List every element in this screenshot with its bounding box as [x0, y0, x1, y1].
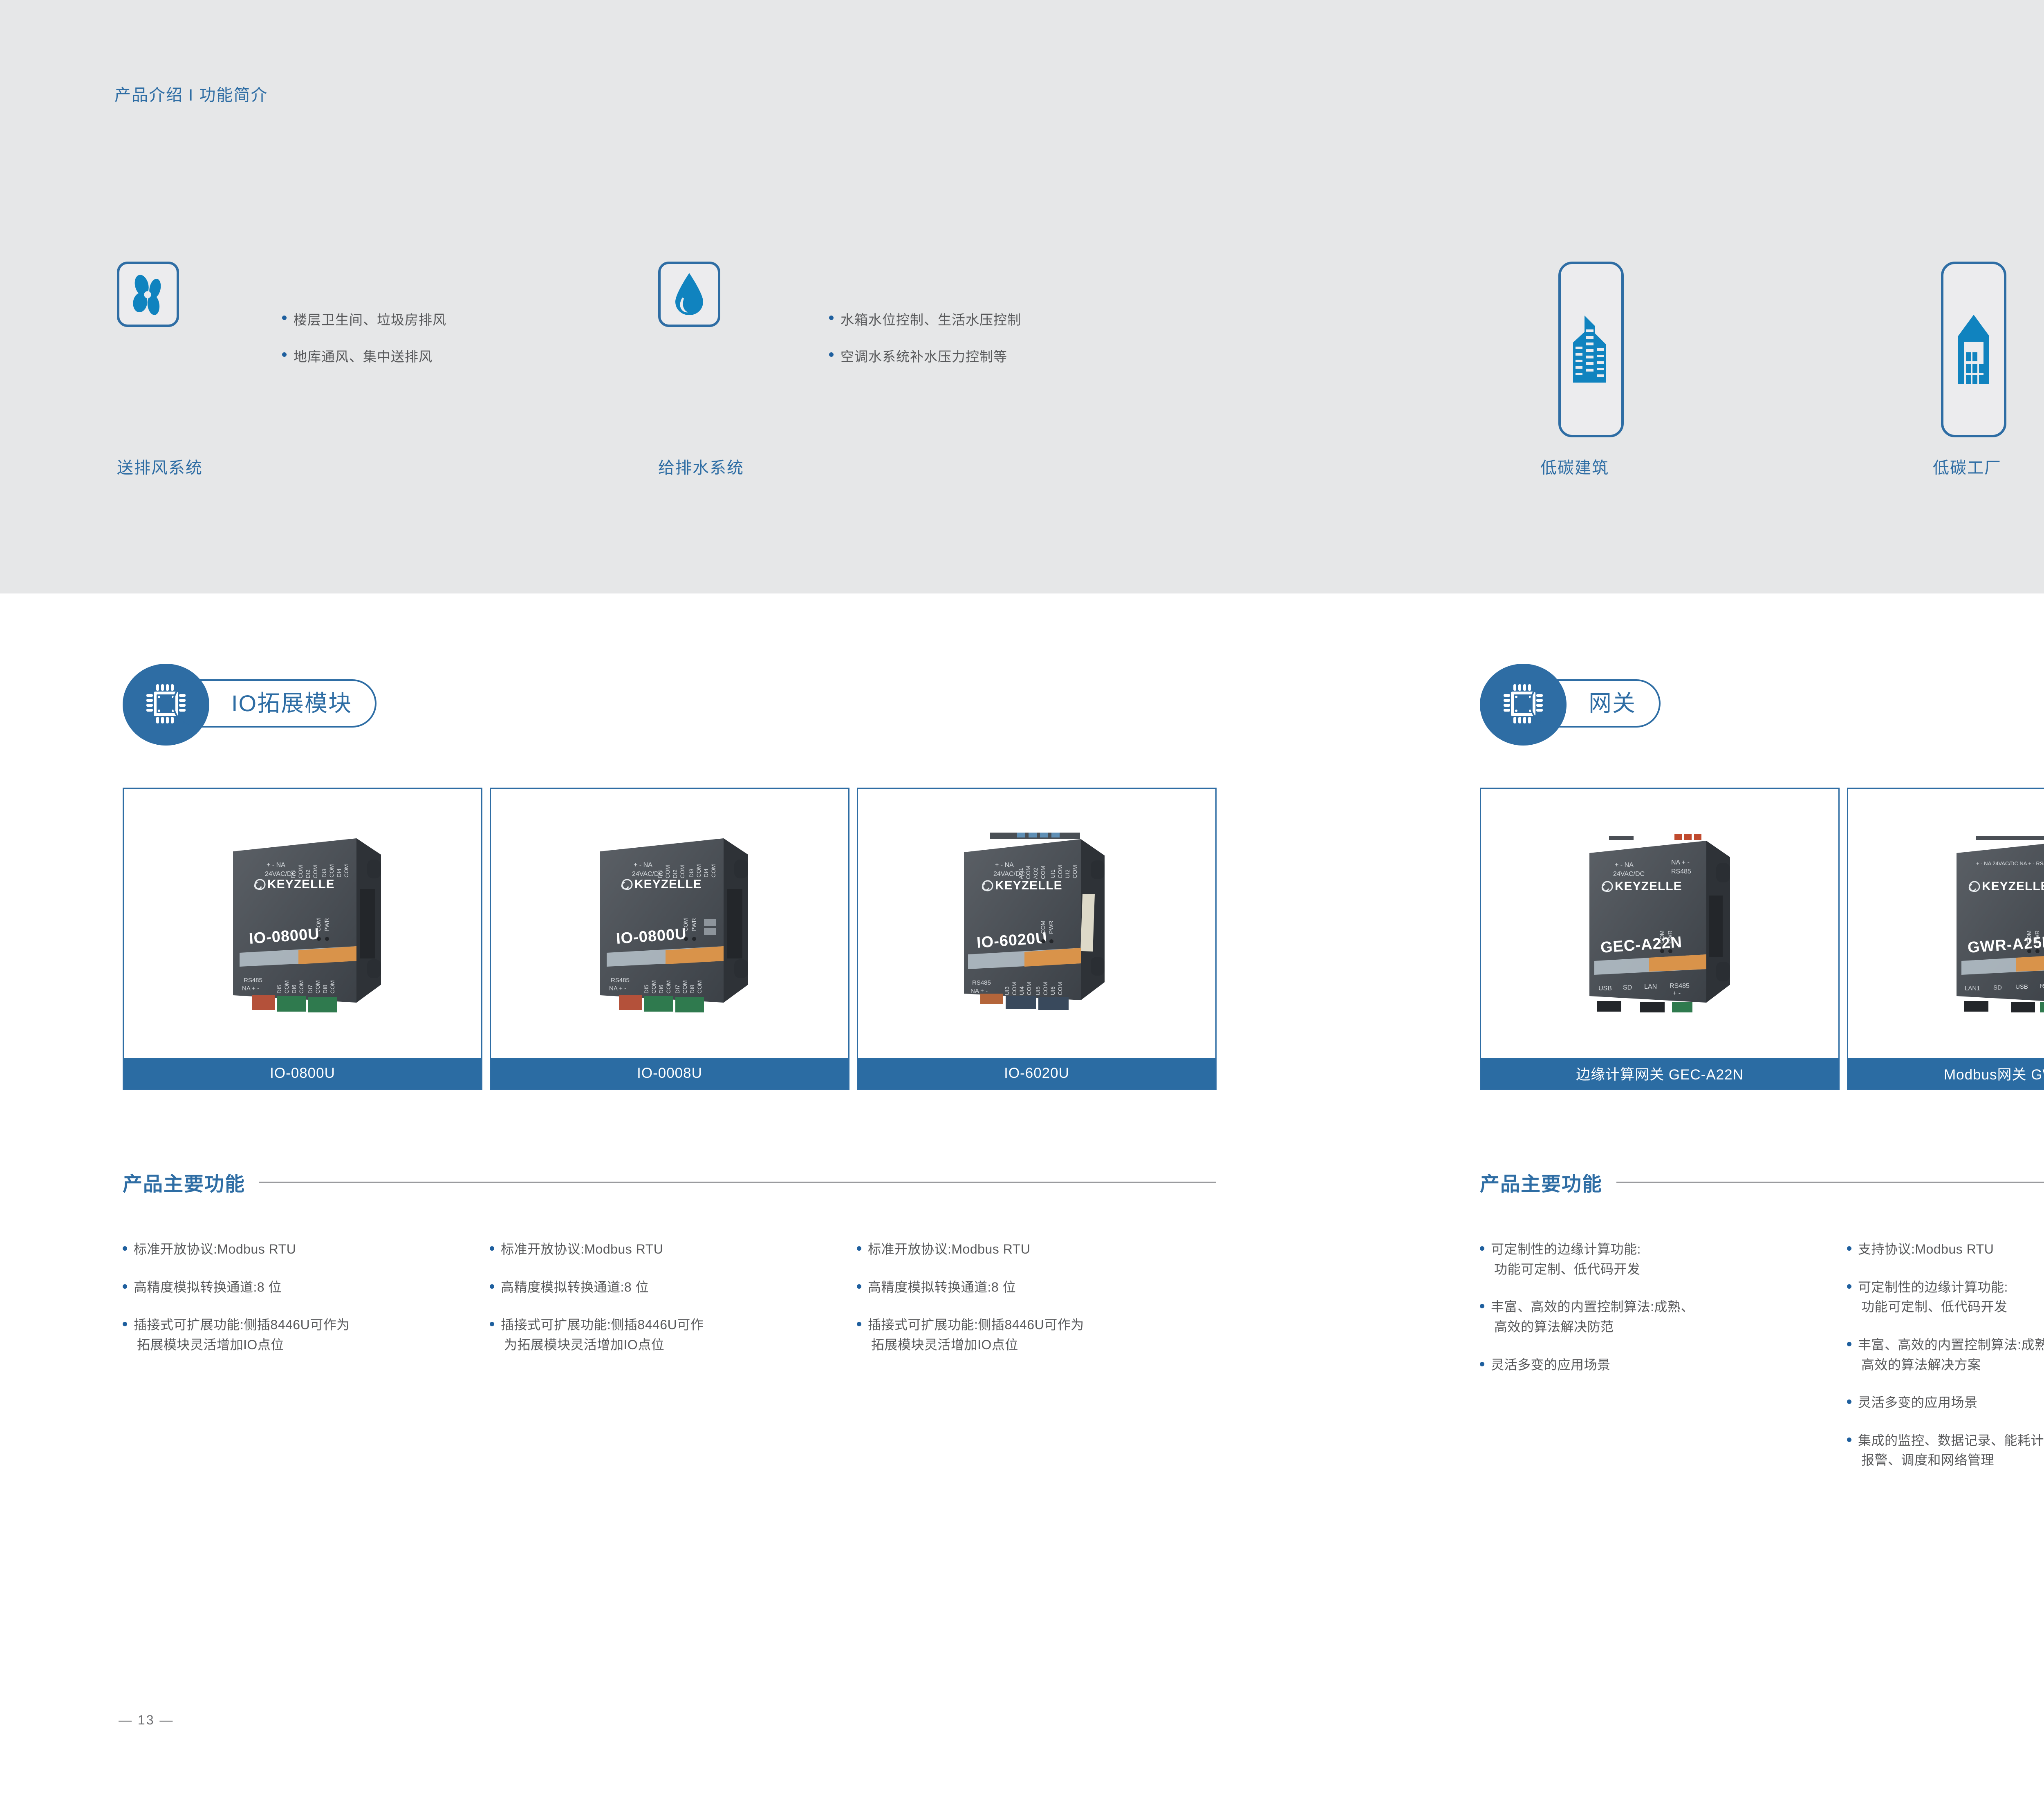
svg-text:USB: USB	[2015, 983, 2028, 990]
bullet-text: 楼层卫生间、垃圾房排风	[294, 309, 446, 329]
low-carbon-factory-tile	[1941, 262, 2006, 437]
svg-text:24VAC/DC: 24VAC/DC	[1613, 871, 1645, 878]
feature-column: 可定制性的边缘计算功能: 功能可定制、低代码开发 丰富、高效的内置控制算法:成熟…	[1480, 1239, 1836, 1393]
bullet-dot	[282, 352, 287, 357]
features-heading-text: 产品主要功能	[123, 1168, 245, 1196]
feature-text: 可定制性的边缘计算功能: 功能可定制、低代码开发	[1858, 1277, 2008, 1317]
svg-text:AO2: AO2	[1032, 868, 1039, 879]
svg-text:RS485: RS485	[1670, 983, 1690, 990]
svg-text:RS485: RS485	[611, 977, 630, 984]
bullet-dot	[490, 1322, 494, 1326]
svg-text:+ - NA: + - NA	[995, 862, 1014, 869]
list-item: 地库通风、集中送排风	[282, 346, 446, 365]
feature-text: 丰富、高效的内置控制算法:成熟、 高效的算法解决防范	[1491, 1297, 1694, 1337]
svg-text:COM: COM	[343, 864, 350, 878]
svg-text:PWR: PWR	[1667, 930, 1673, 944]
svg-text:COM: COM	[1057, 865, 1063, 878]
svg-text:COM: COM	[696, 980, 703, 994]
badge-pill: 网关	[1530, 679, 1661, 728]
water-system-tile	[658, 262, 720, 327]
lower-content: IO拓展模块 + - NA 24VAC/DC DI1 C	[0, 593, 2044, 1798]
feature-item: 丰富、高效的内置控制算法:成熟、 高效的算法解决方案	[1847, 1335, 2044, 1375]
badge-pill: IO拓展模块	[173, 679, 377, 728]
heading-rule	[1616, 1182, 2044, 1183]
svg-text:COM: COM	[650, 980, 657, 994]
top-banner: 产品介绍 I 功能简介 产品介绍 I 功能简介 送排风系统 楼层卫生间、垃圾房排…	[0, 0, 2044, 593]
feature-item: 可定制性的边缘计算功能: 功能可定制、低代码开发	[1847, 1277, 2044, 1317]
feature-text: 丰富、高效的内置控制算法:成熟、 高效的算法解决方案	[1858, 1335, 2044, 1375]
bullet-dot	[123, 1322, 127, 1326]
bullet-dot	[1847, 1246, 1851, 1251]
product-card[interactable]: + - NA 24VAC/DC NA + - RS485 KEYZELLE GW…	[1847, 788, 2044, 1090]
feature-item: 集成的监控、数据记录、能耗计量、 报警、调度和网络管理	[1847, 1431, 2044, 1470]
feature-item: 可定制性的边缘计算功能: 功能可定制、低代码开发	[1480, 1239, 1836, 1279]
feature-item: 高精度模拟转换通道:8 位	[490, 1277, 845, 1297]
product-card[interactable]: + - NA 24VAC/DC NA + - RS485 KEYZELLE GE…	[1480, 788, 1840, 1090]
feature-item: 插接式可扩展功能:侧插8446U可作 为拓展模块灵活增加IO点位	[490, 1315, 845, 1355]
svg-text:+ - NA: + - NA	[634, 862, 652, 869]
water-drop-icon	[673, 272, 705, 316]
svg-text:UI4: UI4	[1018, 986, 1025, 995]
svg-text:DI4: DI4	[703, 869, 709, 878]
bullet-dot	[1480, 1304, 1484, 1308]
svg-text:+ - NA: + - NA	[1615, 862, 1634, 869]
svg-text:DI7: DI7	[307, 985, 314, 994]
bullet-dot	[857, 1246, 861, 1251]
list-item: 水箱水位控制、生活水压控制	[829, 309, 1021, 329]
water-system-label: 给排水系统	[658, 455, 744, 478]
bullet-text: 水箱水位控制、生活水压控制	[840, 309, 1021, 329]
product-caption: IO-6020U	[858, 1058, 1215, 1089]
feature-text: 支持协议:Modbus RTU	[1858, 1239, 1994, 1259]
svg-text:UI2: UI2	[1064, 869, 1071, 878]
feature-text: 标准开放协议:Modbus RTU	[134, 1239, 296, 1259]
svg-text:COM: COM	[1040, 920, 1046, 934]
svg-text:DI4: DI4	[336, 869, 342, 878]
heading-rule	[259, 1182, 1216, 1183]
fan-system-label: 送排风系统	[117, 455, 203, 478]
feature-item: 插接式可扩展功能:侧插8446U可作为 拓展模块灵活增加IO点位	[123, 1315, 478, 1355]
low-carbon-factory-label: 低碳工厂	[1933, 455, 2001, 478]
svg-text:COM: COM	[283, 980, 290, 994]
svg-text:COM: COM	[710, 864, 717, 878]
product-caption: IO-0800U	[124, 1058, 481, 1089]
svg-text:RS485: RS485	[972, 979, 991, 986]
feature-text: 高精度模拟转换通道:8 位	[134, 1277, 282, 1297]
svg-text:PWR: PWR	[690, 918, 697, 931]
svg-text:COM: COM	[695, 864, 702, 878]
svg-text:COM: COM	[681, 980, 688, 994]
svg-text:+ -: + -	[1673, 990, 1681, 997]
svg-text:DI5: DI5	[276, 985, 282, 994]
feature-column: 支持协议:Modbus RTU 可定制性的边缘计算功能: 功能可定制、低代码开发…	[1847, 1239, 2044, 1488]
svg-text:+ - NA: + - NA	[267, 862, 285, 869]
badge-label: 网关	[1589, 692, 1636, 715]
product-card[interactable]: + - NA 24VAC/DC AO1 COM AO2 COM UI1 COM …	[857, 788, 1217, 1090]
list-item: 空调水系统补水压力控制等	[829, 346, 1021, 365]
svg-text:COM: COM	[664, 865, 671, 878]
svg-text:NA + -: NA + -	[609, 985, 626, 992]
bullet-dot	[123, 1284, 127, 1289]
feature-text: 可定制性的边缘计算功能: 功能可定制、低代码开发	[1491, 1239, 1641, 1279]
svg-text:COM: COM	[329, 980, 336, 994]
svg-text:DI8: DI8	[322, 985, 328, 994]
list-item: 楼层卫生间、垃圾房排风	[282, 309, 446, 329]
svg-text:DI2: DI2	[672, 869, 678, 878]
bullet-dot	[1847, 1342, 1851, 1346]
feature-item: 支持协议:Modbus RTU	[1847, 1239, 2044, 1259]
product-caption: IO-0008U	[491, 1058, 848, 1089]
feature-item: 高精度模拟转换通道:8 位	[857, 1277, 1213, 1297]
svg-text:RS485: RS485	[244, 977, 262, 984]
svg-text:COM: COM	[2026, 930, 2032, 944]
feature-text: 插接式可扩展功能:侧插8446U可作为 拓展模块灵活增加IO点位	[134, 1315, 350, 1355]
factory-icon	[1953, 312, 1994, 387]
features-heading-gateway: 产品主要功能	[1480, 1168, 2044, 1196]
feature-text: 集成的监控、数据记录、能耗计量、 报警、调度和网络管理	[1858, 1431, 2044, 1470]
feature-item: 插接式可扩展功能:侧插8446U可作为 拓展模块灵活增加IO点位	[857, 1315, 1213, 1355]
svg-text:COM: COM	[1011, 982, 1018, 995]
bullet-dot	[123, 1246, 127, 1251]
svg-text:DI1: DI1	[657, 869, 663, 878]
feature-text: 标准开放协议:Modbus RTU	[501, 1239, 663, 1259]
bullet-dot	[282, 316, 287, 320]
svg-text:COM: COM	[1026, 982, 1032, 995]
svg-text:SD: SD	[1993, 984, 2002, 991]
fan-icon	[128, 273, 168, 315]
feature-item: 标准开放协议:Modbus RTU	[490, 1239, 845, 1259]
svg-text:USB: USB	[1598, 985, 1612, 992]
water-system-bullets: 水箱水位控制、生活水压控制 空调水系统补水压力控制等	[829, 309, 1021, 365]
svg-text:COM: COM	[1057, 982, 1063, 995]
feature-text: 标准开放协议:Modbus RTU	[868, 1239, 1030, 1259]
svg-text:COM: COM	[1025, 866, 1031, 879]
feature-text: 高精度模拟转换通道:8 位	[501, 1277, 649, 1297]
svg-text:KEYZELLE: KEYZELLE	[995, 879, 1062, 892]
office-building-icon	[1568, 311, 1614, 388]
svg-text:DI1: DI1	[290, 869, 296, 878]
feature-item: 标准开放协议:Modbus RTU	[123, 1239, 478, 1259]
product-card[interactable]: + - NA 24VAC/DC DI1 COM DI2 COM DI3 COM …	[490, 788, 849, 1090]
bullet-dot	[490, 1284, 494, 1289]
svg-text:COM: COM	[297, 865, 304, 878]
product-photo: + - NA 24VAC/DC NA + - RS485 KEYZELLE GE…	[1481, 789, 1838, 1058]
svg-text:COM: COM	[312, 865, 318, 878]
feature-text: 高精度模拟转换通道:8 位	[868, 1277, 1016, 1297]
bullet-dot	[490, 1246, 494, 1251]
bullet-dot	[1847, 1438, 1851, 1442]
svg-text:DI3: DI3	[688, 869, 695, 878]
svg-text:KEYZELLE: KEYZELLE	[267, 878, 335, 891]
product-photo: + - NA 24VAC/DC DI1 COM DI2 COM DI3 COM …	[491, 789, 848, 1058]
svg-text:PWR: PWR	[323, 918, 330, 931]
svg-text:DI3: DI3	[321, 869, 327, 878]
svg-text:SD: SD	[1623, 984, 1632, 991]
feature-item: 丰富、高效的内置控制算法:成熟、 高效的算法解决防范	[1480, 1297, 1836, 1337]
product-photo: + - NA 24VAC/DC AO1 COM AO2 COM UI1 COM …	[858, 789, 1215, 1058]
features-heading-io: 产品主要功能	[123, 1168, 1217, 1196]
feature-text: 灵活多变的应用场景	[1858, 1393, 1978, 1413]
fan-system-tile	[117, 262, 179, 327]
svg-text:DI5: DI5	[643, 985, 650, 994]
low-carbon-building-tile	[1558, 262, 1624, 437]
svg-text:COM: COM	[1071, 865, 1078, 878]
bullet-dot	[1480, 1362, 1484, 1366]
svg-text:RS485: RS485	[2040, 983, 2044, 990]
bullet-dot	[1847, 1284, 1851, 1289]
product-photo: + - NA 24VAC/DC DI1 COM DI2 COM DI3 COM …	[124, 789, 481, 1058]
bullet-dot	[1480, 1246, 1484, 1251]
bullet-dot	[829, 352, 834, 357]
svg-text:COM: COM	[328, 864, 335, 878]
svg-text:KEYZELLE: KEYZELLE	[1982, 880, 2044, 893]
feature-item: 高精度模拟转换通道:8 位	[123, 1277, 478, 1297]
product-card[interactable]: + - NA 24VAC/DC DI1 COM DI2 COM DI3 COM …	[123, 788, 482, 1090]
features-heading-text: 产品主要功能	[1480, 1168, 1602, 1196]
svg-text:KEYZELLE: KEYZELLE	[634, 878, 702, 891]
svg-text:KEYZELLE: KEYZELLE	[1615, 880, 1682, 893]
feature-item: 灵活多变的应用场景	[1480, 1355, 1836, 1375]
svg-text:LAN1: LAN1	[1965, 985, 1980, 992]
feature-text: 插接式可扩展功能:侧插8446U可作 为拓展模块灵活增加IO点位	[501, 1315, 704, 1355]
feature-text: 插接式可扩展功能:侧插8446U可作为 拓展模块灵活增加IO点位	[868, 1315, 1084, 1355]
feature-column: 标准开放协议:Modbus RTU 高精度模拟转换通道:8 位 插接式可扩展功能…	[857, 1239, 1213, 1373]
bullet-dot	[857, 1322, 861, 1326]
svg-text:+ - NA 24VAC/DC NA + -: + - NA 24VAC/DC NA + - RS485	[1976, 860, 2044, 867]
svg-text:RS485: RS485	[1671, 868, 1691, 875]
svg-text:COM: COM	[1659, 930, 1665, 944]
svg-text:DI7: DI7	[674, 985, 681, 994]
feature-column: 标准开放协议:Modbus RTU 高精度模拟转换通道:8 位 插接式可扩展功能…	[123, 1239, 478, 1373]
svg-text:DI6: DI6	[291, 985, 297, 994]
svg-text:COM: COM	[314, 980, 321, 994]
svg-text:LAN: LAN	[1644, 983, 1657, 990]
badge-label: IO拓展模块	[231, 692, 352, 715]
bullet-dot	[1847, 1399, 1851, 1404]
product-caption: Modbus网关 GWR-A25N	[1848, 1058, 2044, 1089]
svg-text:UI6: UI6	[1049, 986, 1056, 995]
svg-text:COM: COM	[1040, 866, 1046, 879]
svg-text:UI1: UI1	[1049, 869, 1056, 878]
feature-text: 灵活多变的应用场景	[1491, 1355, 1611, 1375]
feature-item: 标准开放协议:Modbus RTU	[857, 1239, 1213, 1259]
feature-column: 标准开放协议:Modbus RTU 高精度模拟转换通道:8 位 插接式可扩展功能…	[490, 1239, 845, 1373]
page-number-left: — 13 —	[119, 1713, 174, 1728]
bullet-dot	[857, 1284, 861, 1289]
svg-text:COM: COM	[315, 918, 322, 931]
svg-text:AO1: AO1	[1018, 868, 1024, 879]
product-caption: 边缘计算网关 GEC-A22N	[1481, 1058, 1838, 1089]
bullet-text: 地库通风、集中送排风	[294, 346, 433, 365]
product-photo: + - NA 24VAC/DC NA + - RS485 KEYZELLE GW…	[1848, 789, 2044, 1058]
svg-text:COM: COM	[679, 865, 686, 878]
svg-text:DI8: DI8	[689, 985, 695, 994]
bullet-dot	[829, 316, 834, 320]
svg-text:NA + -: NA + -	[1671, 859, 1690, 866]
svg-text:UI5: UI5	[1035, 986, 1041, 995]
svg-text:DI2: DI2	[305, 869, 311, 878]
svg-text:DI6: DI6	[658, 985, 664, 994]
fan-system-bullets: 楼层卫生间、垃圾房排风 地库通风、集中送排风	[282, 309, 446, 365]
svg-text:NA + -: NA + -	[970, 987, 988, 994]
svg-text:COM: COM	[1042, 982, 1049, 995]
svg-text:PWR: PWR	[1048, 920, 1054, 934]
svg-text:PWR: PWR	[2034, 930, 2040, 944]
bullet-text: 空调水系统补水压力控制等	[840, 346, 1007, 365]
feature-item: 灵活多变的应用场景	[1847, 1393, 2044, 1413]
svg-text:COM: COM	[665, 980, 672, 994]
header-left-title: 产品介绍 I 功能简介	[114, 82, 268, 105]
svg-text:COM: COM	[298, 980, 305, 994]
low-carbon-building-label: 低碳建筑	[1540, 455, 1609, 478]
svg-text:NA + -: NA + -	[242, 985, 259, 992]
svg-text:UI3: UI3	[1004, 986, 1010, 995]
svg-text:COM: COM	[682, 918, 689, 931]
